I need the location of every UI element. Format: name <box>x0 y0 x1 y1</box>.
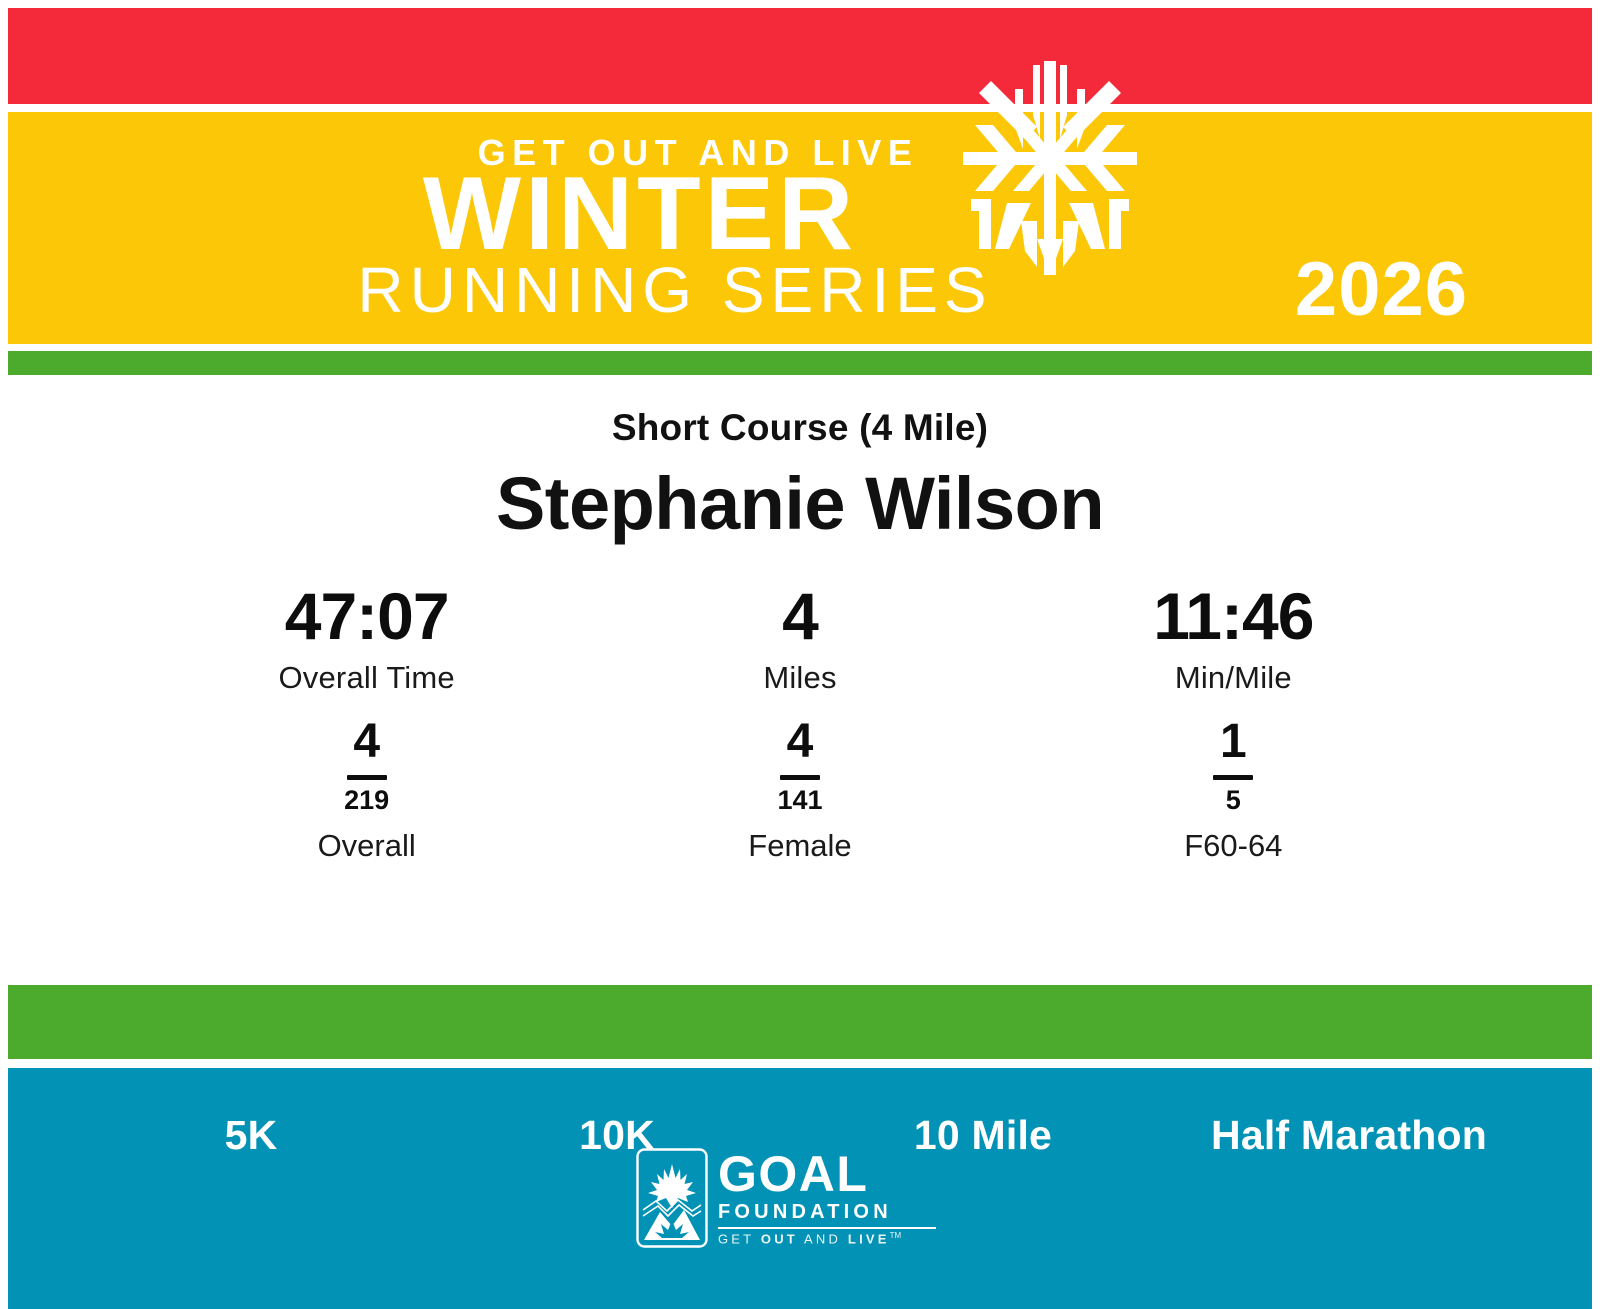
distance-item-half-marathon[interactable]: Half Marathon <box>1166 1112 1532 1159</box>
goal-tagline-mid: AND <box>798 1232 848 1247</box>
rank-place: 4 <box>583 718 1016 766</box>
ranks-row: 4 219 Overall 4 141 Female 1 5 F60-64 <box>0 718 1600 864</box>
stat-overall-time: 47:07 Overall Time <box>150 582 583 695</box>
rank-label: Female <box>583 828 1016 864</box>
header-band-green <box>8 351 1592 375</box>
rank-divider <box>1213 775 1253 780</box>
goal-foundation-logo[interactable]: GOAL FOUNDATION GET OUT AND LIVETM <box>636 1146 936 1250</box>
goal-tagline-live: LIVE <box>848 1232 890 1247</box>
goal-logo-name: GOAL <box>718 1151 936 1199</box>
header-band-yellow <box>8 112 1592 344</box>
footer-band-green <box>8 985 1592 1059</box>
goal-mountain-sunburst-icon <box>636 1148 708 1248</box>
rank-label: Overall <box>150 828 583 864</box>
rank-place: 1 <box>1017 718 1450 766</box>
rank-total: 5 <box>1017 787 1450 814</box>
stat-value: 11:46 <box>1017 582 1450 651</box>
rank-age-group: 1 5 F60-64 <box>1017 718 1450 864</box>
stat-value: 47:07 <box>150 582 583 651</box>
stat-value: 4 <box>583 582 1016 651</box>
stat-label: Min/Mile <box>1017 660 1450 696</box>
rank-place: 4 <box>150 718 583 766</box>
goal-logo-tagline: GET OUT AND LIVETM <box>718 1232 936 1247</box>
goal-logo-subtitle: FOUNDATION <box>718 1198 936 1224</box>
goal-tagline-pre: GET <box>718 1232 761 1247</box>
rank-total: 141 <box>583 787 1016 814</box>
rank-label: F60-64 <box>1017 828 1450 864</box>
race-result-card: GET OUT AND LIVE WINTER RUNNING SERIES 2… <box>0 0 1600 1309</box>
rank-divider <box>347 775 387 780</box>
runner-name: Stephanie Wilson <box>0 463 1600 544</box>
stat-miles: 4 Miles <box>583 582 1016 695</box>
stat-label: Overall Time <box>150 660 583 696</box>
header-band-red <box>8 8 1592 104</box>
stat-min-per-mile: 11:46 Min/Mile <box>1017 582 1450 695</box>
goal-logo-divider <box>718 1227 936 1229</box>
course-title: Short Course (4 Mile) <box>0 407 1600 449</box>
distance-item-5k[interactable]: 5K <box>68 1112 434 1159</box>
stat-label: Miles <box>583 660 1016 696</box>
result-body: Short Course (4 Mile) Stephanie Wilson 4… <box>0 375 1600 985</box>
rank-divider <box>780 775 820 780</box>
goal-tagline-tm: TM <box>890 1231 902 1240</box>
goal-logo-text: GOAL FOUNDATION GET OUT AND LIVETM <box>718 1149 936 1247</box>
stats-row: 47:07 Overall Time 4 Miles 11:46 Min/Mil… <box>0 582 1600 695</box>
rank-overall: 4 219 Overall <box>150 718 583 864</box>
rank-total: 219 <box>150 787 583 814</box>
rank-female: 4 141 Female <box>583 718 1016 864</box>
goal-tagline-out: OUT <box>761 1232 798 1247</box>
